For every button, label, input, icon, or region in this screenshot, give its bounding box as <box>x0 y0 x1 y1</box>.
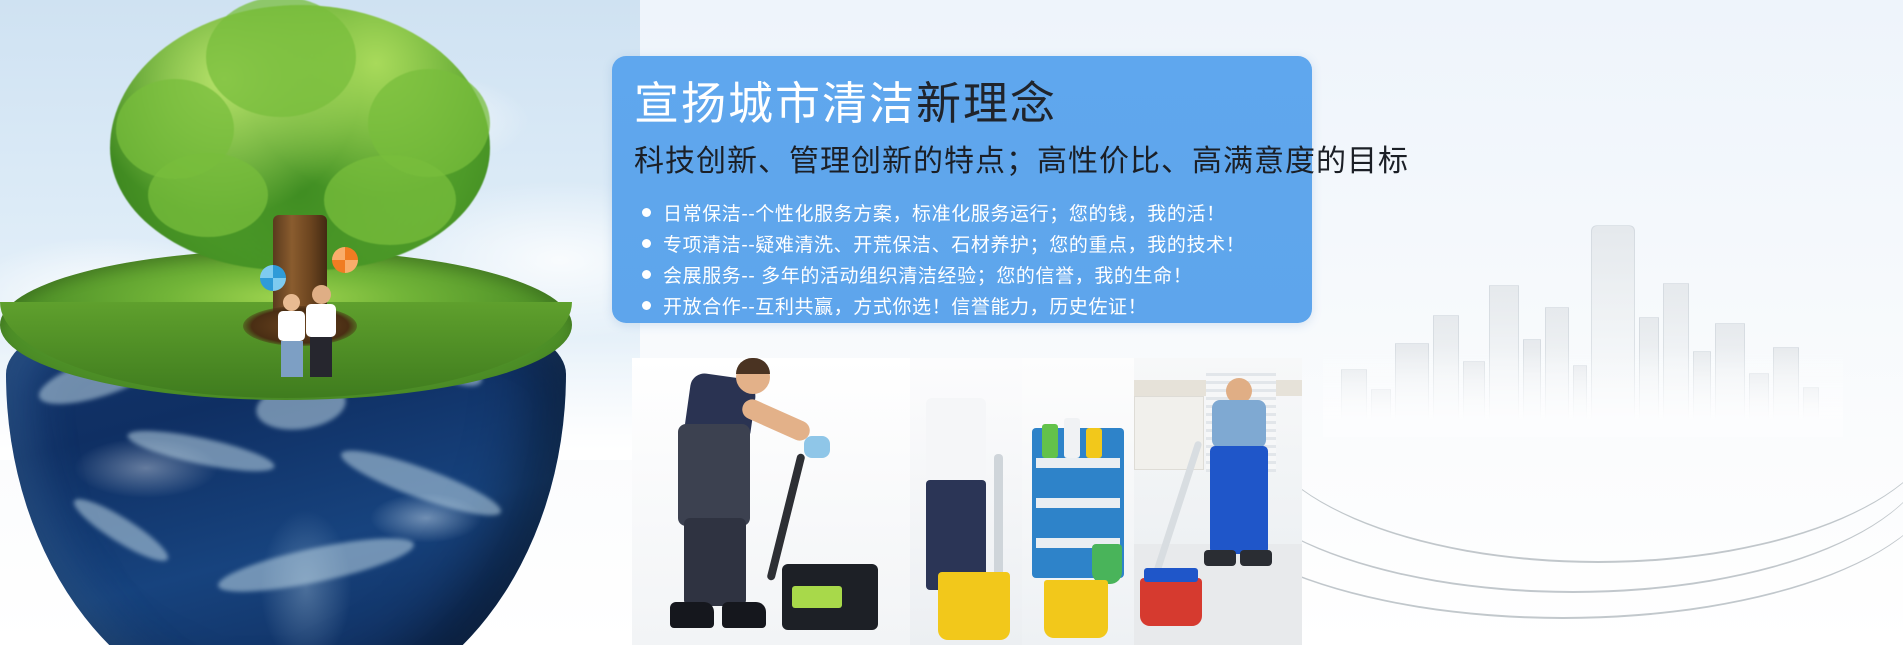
child-figure <box>306 285 336 377</box>
pinwheel-blue-icon <box>260 265 286 291</box>
bullet-dot-icon <box>642 208 651 217</box>
list-item-label: 开放合作--互利共赢，方式你选！信誉能力，历史佐证！ <box>663 292 1147 319</box>
service-list: 日常保洁--个性化服务方案，标准化服务运行；您的钱，我的活！ 专项清洁--疑难清… <box>642 197 1245 321</box>
photo-mop-and-bucket <box>910 358 1022 645</box>
bullet-dot-icon <box>642 270 651 279</box>
child-figure <box>278 294 305 377</box>
page-title: 宣扬城市清洁新理念 <box>634 80 1057 128</box>
photo-cleaning-trolley <box>1022 358 1134 645</box>
list-item: 专项清洁--疑难清洗、开荒保洁、石材养护；您的重点，我的技术！ <box>642 228 1245 259</box>
message-card: 宣扬城市清洁新理念 科技创新、管理创新的特点；高性价比、高满意度的目标 日常保洁… <box>612 56 1312 323</box>
bullet-dot-icon <box>642 239 651 248</box>
list-item-label: 会展服务-- 多年的活动组织清洁经验；您的信誉，我的生命！ <box>663 261 1192 288</box>
earth-tree-illustration <box>6 250 566 645</box>
photo-worker-mopping-kitchen <box>1134 358 1302 645</box>
photo-worker-with-floor-scrubber <box>632 358 910 645</box>
pinwheel-orange-icon <box>332 247 358 273</box>
headline-white-part: 宣扬城市清洁 <box>634 78 916 129</box>
promo-banner: 宣扬城市清洁新理念 科技创新、管理创新的特点；高性价比、高满意度的目标 日常保洁… <box>0 0 1903 645</box>
bullet-dot-icon <box>642 301 651 310</box>
list-item-label: 专项清洁--疑难清洗、开荒保洁、石材养护；您的重点，我的技术！ <box>663 230 1245 257</box>
headline-dark-part: 新理念 <box>916 78 1057 129</box>
list-item: 会展服务-- 多年的活动组织清洁经验；您的信誉，我的生命！ <box>642 259 1245 290</box>
list-item: 开放合作--互利共赢，方式你选！信誉能力，历史佐证！ <box>642 290 1245 321</box>
tree-icon <box>110 5 490 335</box>
photo-strip <box>632 358 1302 645</box>
page-subtitle: 科技创新、管理创新的特点；高性价比、高满意度的目标 <box>634 144 1409 180</box>
list-item-label: 日常保洁--个性化服务方案，标准化服务运行；您的钱，我的活！ <box>663 199 1226 226</box>
list-item: 日常保洁--个性化服务方案，标准化服务运行；您的钱，我的活！ <box>642 197 1245 228</box>
